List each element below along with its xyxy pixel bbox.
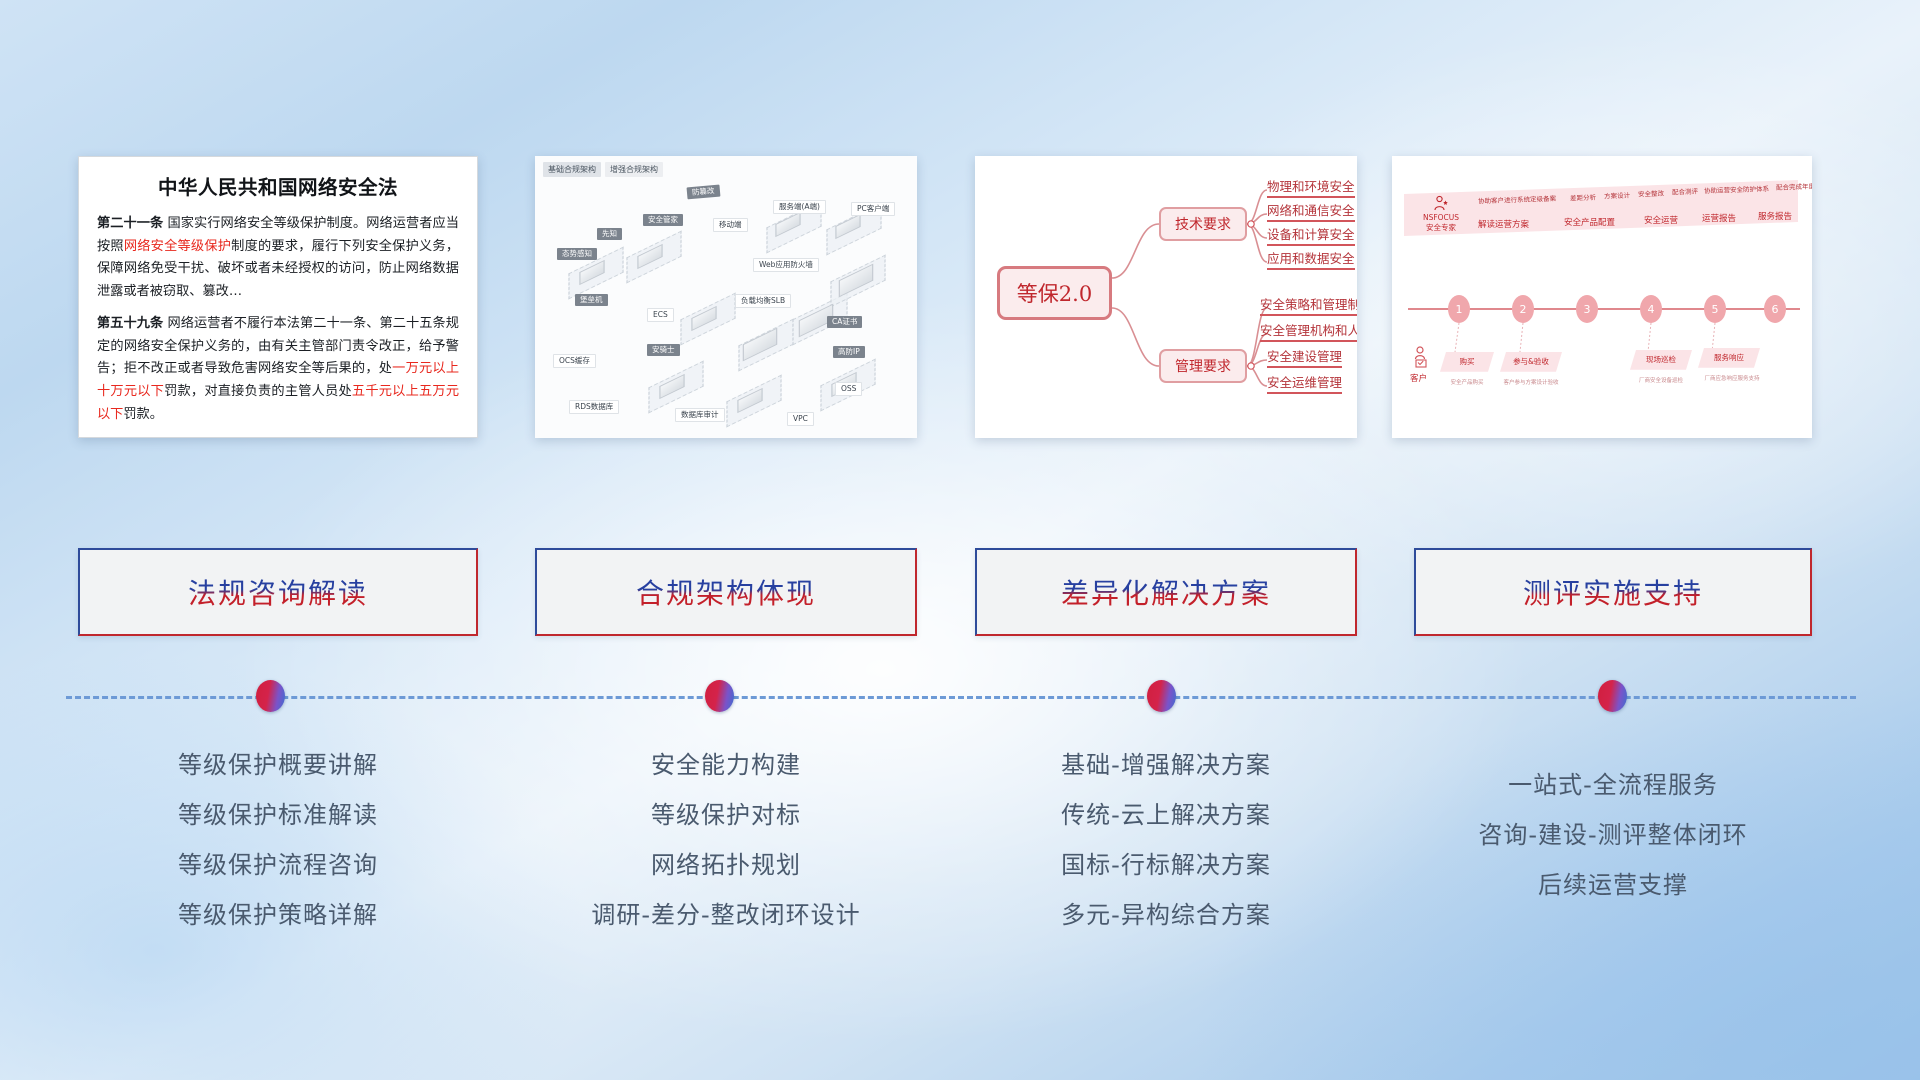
law-content: 中华人民共和国网络安全法 第二十一条 国家实行网络安全等级保护制度。网络运营者应… <box>79 157 477 438</box>
node-label: 先知 <box>597 228 622 240</box>
node-label: 服务端(A端) <box>773 200 826 214</box>
nsfocus-chip-sub: 安全产品购买 <box>1438 378 1496 386</box>
node-label: 堡垒机 <box>575 294 608 306</box>
mindmap: 等保2.0 技术要求 管理要求 物理和环境安全 网络和通信安全 设备和计算安全 … <box>975 156 1357 438</box>
network-diagram: 基础合规架构 增强合规架构 <box>535 156 917 438</box>
card-compliance-architecture: 基础合规架构 增强合规架构 <box>535 156 917 438</box>
node-label: 负载均衡SLB <box>735 294 791 308</box>
mindmap-leaf: 应用和数据安全 <box>1267 248 1355 270</box>
customer-icon-svg <box>1414 346 1432 368</box>
mindmap-leaf: 设备和计算安全 <box>1267 224 1355 246</box>
detail-list-3: 基础-增强解决方案 传统-云上解决方案 国标-行标解决方案 多元-异构综合方案 <box>975 740 1357 940</box>
mindmap-root-node: 等保2.0 <box>997 266 1112 320</box>
node-label: CA证书 <box>827 316 862 328</box>
node-label: 态势感知 <box>557 248 597 260</box>
category-label-4: 测评实施支持 <box>1523 572 1703 612</box>
list-item: 安全能力构建 <box>535 740 917 790</box>
card-nsfocus-timeline: NSFOCUS 安全专家 协助客户进行系统定级备案 差距分析 方案设计 安全整改… <box>1392 156 1812 438</box>
nsfocus-top-label: 配合测评 <box>1672 186 1698 197</box>
nsfocus-top-label: 方案设计 <box>1604 190 1630 201</box>
category-label-1: 法规咨询解读 <box>188 572 368 612</box>
nsfocus-brand: NSFOCUS <box>1423 213 1459 222</box>
node-label: VPC <box>787 412 814 426</box>
category-box-1[interactable]: 法规咨询解读 <box>78 548 478 636</box>
node-label: OSS <box>835 382 862 396</box>
nsfocus-top-label: 配合完成年度复测和上级检查等工作 <box>1776 178 1812 192</box>
list-item: 等级保护对标 <box>535 790 917 840</box>
expert-person-icon <box>1433 195 1449 211</box>
node-label: 防篡改 <box>687 185 720 200</box>
list-item: 后续运营支撑 <box>1414 860 1812 910</box>
timeline-dot-3 <box>1147 680 1176 712</box>
node-label: PC客户端 <box>851 202 895 216</box>
node-label: ECS <box>647 308 674 322</box>
list-item: 网络拓扑规划 <box>535 840 917 890</box>
architecture-tabs: 基础合规架构 增强合规架构 <box>543 162 663 177</box>
nsfocus-step-number: 3 <box>1576 295 1598 323</box>
nsfocus-chip: 购买 <box>1440 352 1494 372</box>
nsfocus-step-number: 4 <box>1640 295 1662 323</box>
nsfocus-chip: 现场巡检 <box>1630 350 1692 370</box>
mindmap-leaf: 物理和环境安全 <box>1267 176 1355 198</box>
card-cybersecurity-law: 中华人民共和国网络安全法 第二十一条 国家实行网络安全等级保护制度。网络运营者应… <box>78 156 478 438</box>
detail-lists-row: 等级保护概要讲解 等级保护标准解读 等级保护流程咨询 等级保护策略详解 安全能力… <box>0 740 1920 990</box>
category-label-2: 合规架构体现 <box>636 572 816 612</box>
list-item: 咨询-建设-测评整体闭环 <box>1414 810 1812 860</box>
node-label: 安全管家 <box>643 214 683 226</box>
nsfocus-logo: NSFOCUS 安全专家 <box>1410 186 1472 232</box>
nsfocus-customer-label: 客户 <box>1410 372 1427 384</box>
article-21-highlight: 网络安全等级保护 <box>124 239 231 254</box>
timeline-dashed-line <box>66 696 1856 699</box>
nsfocus-step-number: 5 <box>1704 295 1726 323</box>
list-item: 传统-云上解决方案 <box>975 790 1357 840</box>
article-59-text-b: 罚款，对直接负责的主管人员处 <box>164 384 352 399</box>
category-label-3: 差异化解决方案 <box>1061 572 1271 612</box>
customer-person-icon <box>1414 346 1432 371</box>
nsfocus-top-label: 安全整改 <box>1638 188 1664 199</box>
category-box-2[interactable]: 合规架构体现 <box>535 548 917 636</box>
node-label: 安骑士 <box>647 344 680 356</box>
detail-list-2: 安全能力构建 等级保护对标 网络拓扑规划 调研-差分-整改闭环设计 <box>535 740 917 940</box>
category-box-3[interactable]: 差异化解决方案 <box>975 548 1357 636</box>
detail-list-1: 等级保护概要讲解 等级保护标准解读 等级保护流程咨询 等级保护策略详解 <box>78 740 478 940</box>
nsfocus-chip-sub: 厂商安全设备巡检 <box>1624 376 1698 384</box>
list-item: 一站式-全流程服务 <box>1414 760 1812 810</box>
nsfocus-top-label: 差距分析 <box>1570 192 1596 203</box>
timeline-dot-4 <box>1598 680 1627 712</box>
detail-list-4: 一站式-全流程服务 咨询-建设-测评整体闭环 后续运营支撑 <box>1414 760 1812 910</box>
list-item: 等级保护概要讲解 <box>78 740 478 790</box>
nsfocus-step-number: 1 <box>1448 295 1470 323</box>
tab-basic-architecture: 基础合规架构 <box>543 162 601 177</box>
list-item: 调研-差分-整改闭环设计 <box>535 890 917 940</box>
tab-enhanced-architecture: 增强合规架构 <box>605 162 663 177</box>
nsfocus-brand-sub: 安全专家 <box>1426 223 1456 232</box>
list-item: 等级保护策略详解 <box>78 890 478 940</box>
nsfocus-stage-label: 解读运营方案 <box>1478 218 1529 230</box>
node-label: Web应用防火墙 <box>753 258 819 272</box>
mindmap-leaf: 安全建设管理 <box>1267 346 1342 368</box>
mindmap-branch-management: 管理要求 <box>1159 349 1247 383</box>
nsfocus-step-number: 6 <box>1764 295 1786 323</box>
nsfocus-chip-sub: 厂商应急响应服务支持 <box>1692 374 1772 382</box>
category-box-4[interactable]: 测评实施支持 <box>1414 548 1812 636</box>
list-item: 等级保护流程咨询 <box>78 840 478 890</box>
list-item: 国标-行标解决方案 <box>975 840 1357 890</box>
article-21-label: 第二十一条 <box>97 216 163 231</box>
mindmap-leaf: 安全运维管理 <box>1267 372 1342 394</box>
nsfocus-stage-label: 安全产品配置 <box>1564 216 1615 228</box>
law-article-21: 第二十一条 国家实行网络安全等级保护制度。网络运营者应当按照网络安全等级保护制度… <box>97 213 459 304</box>
law-article-59: 第五十九条 网络运营者不履行本法第二十一条、第二十五条规定的网络安全保护义务的，… <box>97 313 459 427</box>
article-59-label: 第五十九条 <box>97 316 163 331</box>
nsfocus-chip-sub: 客户参与方案设计验收 <box>1496 378 1566 386</box>
nsfocus-chip: 参与&验收 <box>1500 352 1562 372</box>
node-label: OCS缓存 <box>553 354 596 368</box>
law-title: 中华人民共和国网络安全法 <box>97 171 459 200</box>
nsfocus-stage-label: 服务报告 <box>1758 210 1792 222</box>
article-59-text-c: 罚款。 <box>123 407 163 422</box>
node-label: 数据库审计 <box>675 408 725 422</box>
category-label-row: 法规咨询解读 合规架构体现 差异化解决方案 测评实施支持 <box>0 548 1920 638</box>
reference-cards-row: 中华人民共和国网络安全法 第二十一条 国家实行网络安全等级保护制度。网络运营者应… <box>0 152 1920 442</box>
list-item: 等级保护标准解读 <box>78 790 478 840</box>
timeline-dot-1 <box>256 680 285 712</box>
mindmap-branch-technical: 技术要求 <box>1159 207 1247 241</box>
list-item: 多元-异构综合方案 <box>975 890 1357 940</box>
mindmap-leaf: 安全管理机构和人员 <box>1260 320 1357 342</box>
nsfocus-diagram: NSFOCUS 安全专家 协助客户进行系统定级备案 差距分析 方案设计 安全整改… <box>1392 156 1812 438</box>
nsfocus-step-number: 2 <box>1512 295 1534 323</box>
card-mindmap-dengbao: 等保2.0 技术要求 管理要求 物理和环境安全 网络和通信安全 设备和计算安全 … <box>975 156 1357 438</box>
mindmap-leaf: 安全策略和管理制度 <box>1260 294 1357 316</box>
nsfocus-stage-label: 运营报告 <box>1702 212 1736 224</box>
timeline-dot-2 <box>705 680 734 712</box>
node-label: 高防IP <box>833 346 865 358</box>
nsfocus-chip: 服务响应 <box>1698 348 1760 368</box>
nsfocus-stage-label: 安全运营 <box>1644 214 1678 226</box>
mindmap-leaf: 网络和通信安全 <box>1267 200 1355 222</box>
list-item: 基础-增强解决方案 <box>975 740 1357 790</box>
node-label: RDS数据库 <box>569 400 619 414</box>
node-label: 移动端 <box>713 218 748 232</box>
